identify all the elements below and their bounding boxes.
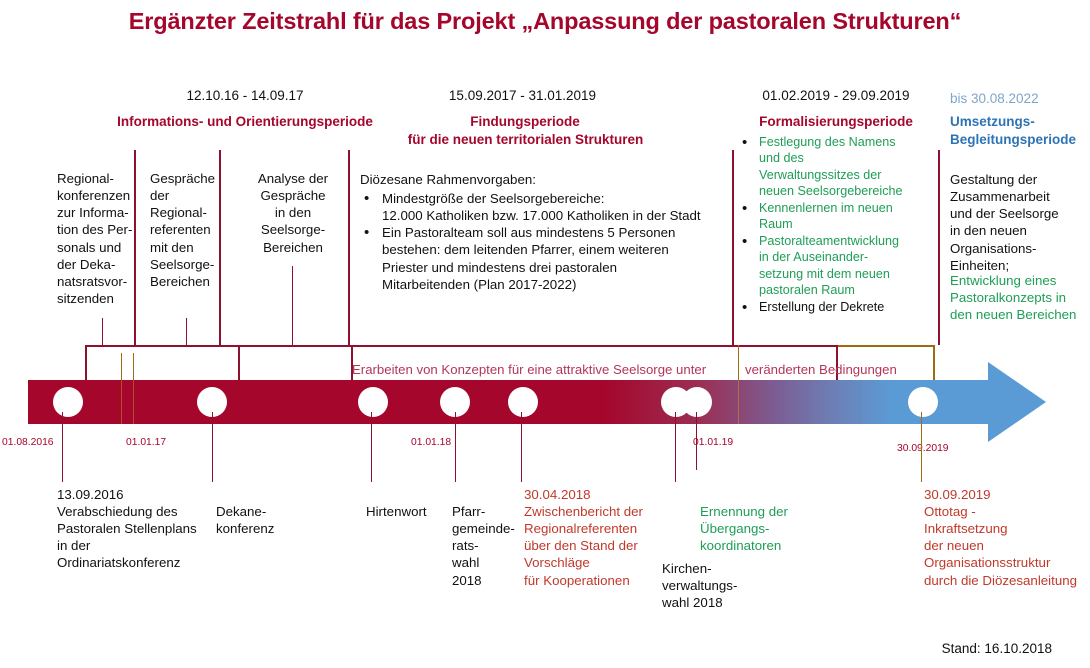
phase-name-umsetzung-line1: Umsetzungs- (950, 113, 1090, 131)
timeline-arrow-head (988, 362, 1046, 442)
milestone-node-1 (53, 387, 83, 417)
tick-date-label: 01.01.19 (693, 437, 733, 448)
milestone-node-5 (508, 387, 538, 417)
tick-date-label: 01.01.18 (411, 437, 451, 448)
tick-date-label: 01.08.2016 (2, 437, 54, 448)
bracket-tick-e (738, 345, 739, 380)
phase-date-umsetzung: bis 30.08.2022 (950, 91, 1080, 108)
event-zwischenbericht-text: Zwischenbericht der Regionalreferenten ü… (524, 503, 669, 589)
list-item: Kennenlernen im neuen Raum (741, 200, 937, 233)
findungsperiode-bullets: Mindestgröße der Seelsorgebereiche: 12.0… (360, 190, 730, 293)
list-item: Mindestgröße der Seelsorgebereiche: 12.0… (360, 190, 730, 224)
phase1-column-2: Gespräche der Regional- referenten mit d… (150, 170, 240, 290)
phase-date-informations: 12.10.16 - 14.09.17 (100, 88, 390, 105)
phase-name-umsetzung-line2: Begleitungsperiode (950, 131, 1090, 149)
phase-date-formalisierung: 01.02.2019 - 29.09.2019 (740, 88, 932, 105)
connector-down-4 (455, 412, 456, 482)
list-item: Ein Pastoralteam soll aus mindestens 5 P… (360, 224, 730, 293)
event-dekanekonferenz-text: Dekane- konferenz (216, 503, 306, 537)
phase-name-formalisierung: Formalisierungsperiode (740, 113, 932, 131)
connector-down-3 (371, 412, 372, 482)
event-verabschiedung-date: 13.09.2016 (57, 486, 124, 503)
milestone-node-3 (358, 387, 388, 417)
phase-divider-3 (348, 150, 350, 345)
tick-date-label: 01.01.17 (126, 437, 166, 448)
list-item: Pastoralteamentwicklung in der Auseinand… (741, 233, 937, 299)
event-zwischenbericht-date: 30.04.2018 (524, 486, 591, 503)
stub-gespraeche (186, 318, 187, 346)
connector-down-7 (696, 412, 697, 470)
event-ottotag-date: 30.09.2019 (924, 486, 991, 503)
bracket-end-left (85, 345, 87, 380)
list-item: Erstellung der Dekrete (741, 299, 937, 315)
phase-divider-5 (938, 150, 940, 345)
bracket-horizontal-right (837, 345, 935, 347)
event-kirchenverwaltungswahl-text: Kirchen- verwaltungs- wahl 2018 (662, 560, 777, 611)
milestone-node-8 (908, 387, 938, 417)
connector-down-6 (675, 412, 676, 482)
phase-divider-2 (219, 150, 221, 345)
phase-date-findungsperiode: 15.09.2017 - 31.01.2019 (380, 88, 665, 105)
findungsperiode-intro: Diözesane Rahmenvorgaben: (360, 171, 720, 188)
umsetzung-body-black: Gestaltung der Zusammenarbeit und der Se… (950, 171, 1085, 274)
tick-date-label: 30.09.2019 (897, 443, 949, 454)
stub-regional-konferenzen (102, 318, 103, 346)
bar-caption-right: veränderten Bedingungen (745, 362, 897, 377)
bracket-tick-a (121, 353, 122, 380)
stub-analyse (292, 266, 293, 346)
phase-name-findungsperiode-line2: für die neuen territorialen Strukturen (348, 131, 703, 149)
bar-stripe-3 (738, 380, 739, 424)
connector-down-8 (921, 412, 922, 482)
phase-divider-4 (732, 150, 734, 345)
bracket-horizontal-left (85, 345, 837, 347)
page-title: Ergänzter Zeitstrahl für das Projekt „An… (0, 8, 1090, 35)
connector-down-5 (521, 412, 522, 482)
event-hirtenwort-text: Hirtenwort (366, 503, 461, 520)
event-verabschiedung-text: Verabschiedung des Pastoralen Stellenpla… (57, 503, 217, 572)
bar-stripe-2 (133, 380, 134, 424)
phase-name-findungsperiode-line1: Findungsperiode (385, 113, 665, 131)
event-pfarrgemeinderatswahl-text: Pfarr- gemeinde- rats- wahl 2018 (452, 503, 524, 589)
formalisierung-bullets: Festlegung des Namens und des Verwaltung… (741, 134, 937, 315)
bar-caption-left: Erarbeiten von Konzepten für eine attrak… (352, 362, 706, 377)
list-item: Festlegung des Namens und des Verwaltung… (741, 134, 937, 200)
connector-down-1 (62, 412, 63, 482)
bar-stripe-1 (121, 380, 122, 424)
event-ottotag-text: Ottotag - Inkraftsetzung der neuen Organ… (924, 503, 1090, 589)
bracket-end-far-right (933, 345, 935, 380)
connector-down-2 (212, 412, 213, 482)
umsetzung-body-green: Entwicklung eines Pastoralkonzepts in de… (950, 272, 1090, 323)
stand-label: Stand: 16.10.2018 (942, 641, 1052, 656)
bracket-tick-b (133, 353, 134, 380)
phase1-column-3: Analyse der Gespräche in den Seelsorge- … (243, 170, 343, 256)
event-ernennung-text: Ernennung der Übergangs- koordinatoren (700, 503, 830, 554)
bracket-tick-c (238, 345, 240, 380)
phase-divider-1 (134, 150, 136, 345)
